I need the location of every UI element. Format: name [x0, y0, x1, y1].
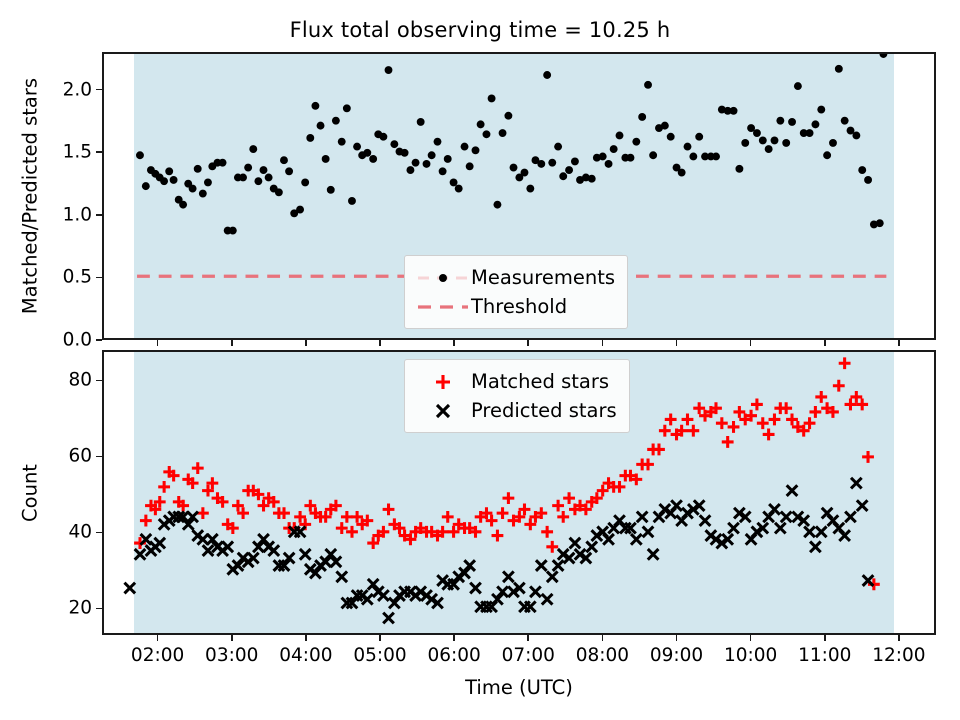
y-tick-label: 60 [34, 446, 92, 467]
y-tick-label: 20 [34, 598, 92, 619]
y-tick-mark [96, 277, 102, 279]
x-tick-mark [379, 340, 381, 346]
top-legend[interactable]: MeasurementsThreshold [404, 255, 628, 329]
legend-entry[interactable]: Threshold [415, 292, 615, 321]
x-tick-mark [527, 340, 529, 346]
y-tick-label: 40 [34, 522, 92, 543]
y-tick-mark [96, 214, 102, 216]
x-tick-mark [453, 635, 455, 641]
legend-dot-icon [417, 269, 469, 287]
legend-entry[interactable]: Predicted stars [415, 396, 617, 425]
x-tick-mark [379, 635, 381, 641]
x-tick-mark [898, 340, 900, 346]
x-tick-mark [602, 340, 604, 346]
y-tick-label: 80 [34, 370, 92, 391]
y-tick-mark [96, 608, 102, 610]
x-tick-mark [824, 340, 826, 346]
figure-title: Flux total observing time = 10.25 h [0, 18, 960, 42]
x-tick-mark [750, 340, 752, 346]
bottom-legend[interactable]: Matched starsPredicted stars [404, 359, 630, 433]
x-tick-mark [527, 635, 529, 641]
legend-marker [415, 298, 471, 316]
y-tick-label: 1.5 [34, 142, 92, 163]
y-tick-label: 1.0 [34, 204, 92, 225]
x-tick-mark [676, 635, 678, 641]
x-tick-label: 04:00 [279, 645, 332, 666]
y-tick-label: 0.5 [34, 267, 92, 288]
legend-label: Measurements [471, 266, 615, 289]
x-tick-label: 11:00 [798, 645, 851, 666]
x-tick-label: 07:00 [502, 645, 555, 666]
x-tick-label: 09:00 [650, 645, 703, 666]
bottom-y-axis-label: Count [19, 464, 42, 522]
legend-cross-icon [432, 400, 454, 422]
y-tick-mark [96, 380, 102, 382]
x-tick-mark [453, 340, 455, 346]
x-tick-label: 12:00 [872, 645, 925, 666]
y-tick-label: 2.0 [34, 79, 92, 100]
legend-label: Threshold [471, 295, 567, 318]
y-tick-mark [96, 89, 102, 91]
x-tick-mark [305, 635, 307, 641]
x-tick-mark [305, 340, 307, 346]
x-tick-mark [750, 635, 752, 641]
x-tick-label: 06:00 [427, 645, 480, 666]
top-y-axis-label: Matched/Predicted stars [19, 78, 42, 314]
x-tick-label: 08:00 [576, 645, 629, 666]
x-tick-mark [898, 635, 900, 641]
x-tick-mark [157, 635, 159, 641]
x-tick-label: 03:00 [205, 645, 258, 666]
x-tick-label: 05:00 [353, 645, 406, 666]
legend-dashed-line-icon [417, 298, 469, 316]
legend-plus-icon [432, 371, 454, 393]
y-tick-mark [96, 532, 102, 534]
x-tick-label: 02:00 [131, 645, 184, 666]
legend-label: Matched stars [471, 370, 609, 393]
y-tick-mark [96, 339, 102, 341]
x-tick-mark [602, 635, 604, 641]
y-tick-mark [96, 151, 102, 153]
legend-marker [415, 269, 471, 287]
legend-marker [415, 371, 471, 393]
legend-label: Predicted stars [471, 399, 617, 422]
legend-marker [415, 400, 471, 422]
x-axis-label: Time (UTC) [465, 676, 573, 699]
legend-entry[interactable]: Measurements [415, 263, 615, 292]
x-tick-mark [231, 340, 233, 346]
x-tick-label: 10:00 [724, 645, 777, 666]
x-tick-mark [676, 340, 678, 346]
legend-entry[interactable]: Matched stars [415, 367, 617, 396]
y-tick-label: 0.0 [34, 330, 92, 351]
x-tick-mark [824, 635, 826, 641]
y-tick-mark [96, 456, 102, 458]
x-tick-mark [231, 635, 233, 641]
x-tick-mark [157, 340, 159, 346]
matplotlib-figure: Flux total observing time = 10.25 h 0.00… [0, 0, 960, 720]
